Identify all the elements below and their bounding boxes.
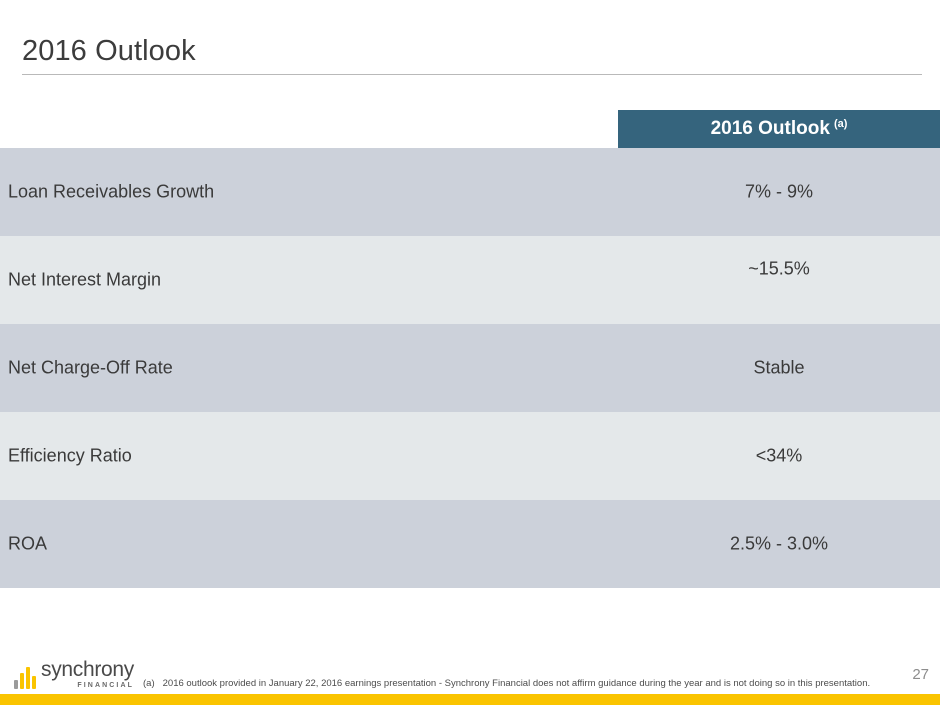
footnote-text: 2016 outlook provided in January 22, 201… — [163, 677, 878, 691]
logo-word: synchrony — [41, 659, 134, 680]
title-divider — [22, 74, 922, 75]
row-label-net-charge-off-rate: Net Charge-Off Rate — [8, 358, 173, 379]
outlook-table: 2016 Outlook (a) Loan Receivables Growth… — [0, 110, 940, 588]
footnote: (a) 2016 outlook provided in January 22,… — [143, 677, 878, 691]
table-row: Net Charge-Off Rate Stable — [0, 324, 940, 412]
column-header-label: 2016 Outlook — [711, 118, 830, 140]
row-label-net-interest-margin: Net Interest Margin — [8, 270, 161, 291]
logo-wordmark: synchrony FINANCIAL — [41, 659, 134, 689]
table-header-row: 2016 Outlook (a) — [0, 110, 940, 148]
logo-subtitle: FINANCIAL — [41, 682, 134, 689]
table-row: Loan Receivables Growth 7% - 9% — [0, 148, 940, 236]
footnote-marker: (a) — [143, 677, 155, 691]
table-row: Efficiency Ratio <34% — [0, 412, 940, 500]
table-row: ROA 2.5% - 3.0% — [0, 500, 940, 588]
table-body: Loan Receivables Growth 7% - 9% Net Inte… — [0, 148, 940, 588]
row-label-loan-receivables-growth: Loan Receivables Growth — [8, 182, 214, 203]
column-header-footnote-marker: (a) — [834, 118, 847, 130]
row-label-roa: ROA — [8, 534, 47, 555]
footer-accent-bar — [0, 694, 940, 705]
table-row: Net Interest Margin ~15.5% — [0, 236, 940, 324]
slide-footer: synchrony FINANCIAL (a) 2016 outlook pro… — [0, 647, 940, 705]
page-title: 2016 Outlook — [22, 34, 196, 69]
row-value-roa: 2.5% - 3.0% — [618, 534, 940, 555]
row-value-net-interest-margin: ~15.5% — [618, 259, 940, 280]
row-value-loan-receivables-growth: 7% - 9% — [618, 182, 940, 203]
row-value-efficiency-ratio: <34% — [618, 446, 940, 467]
column-header-2016-outlook: 2016 Outlook (a) — [618, 110, 940, 148]
row-label-efficiency-ratio: Efficiency Ratio — [8, 446, 132, 467]
row-value-net-charge-off-rate: Stable — [618, 358, 940, 379]
synchrony-bars-icon — [14, 667, 36, 689]
synchrony-financial-logo: synchrony FINANCIAL — [14, 659, 134, 689]
page-number: 27 — [912, 666, 929, 683]
